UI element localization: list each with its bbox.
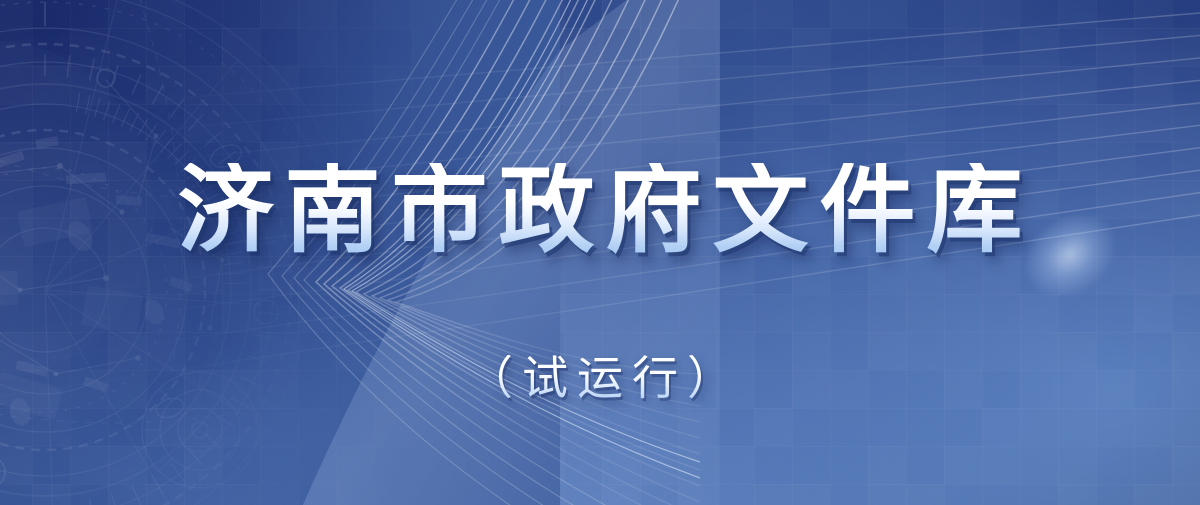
page-title: 济南市政府文件库: [167, 163, 1034, 259]
page-subtitle: （试运行）: [458, 355, 742, 401]
government-document-library-banner: 济南市政府文件库 （试运行）: [0, 0, 1200, 505]
banner-text-block: 济南市政府文件库 （试运行）: [0, 0, 1200, 505]
